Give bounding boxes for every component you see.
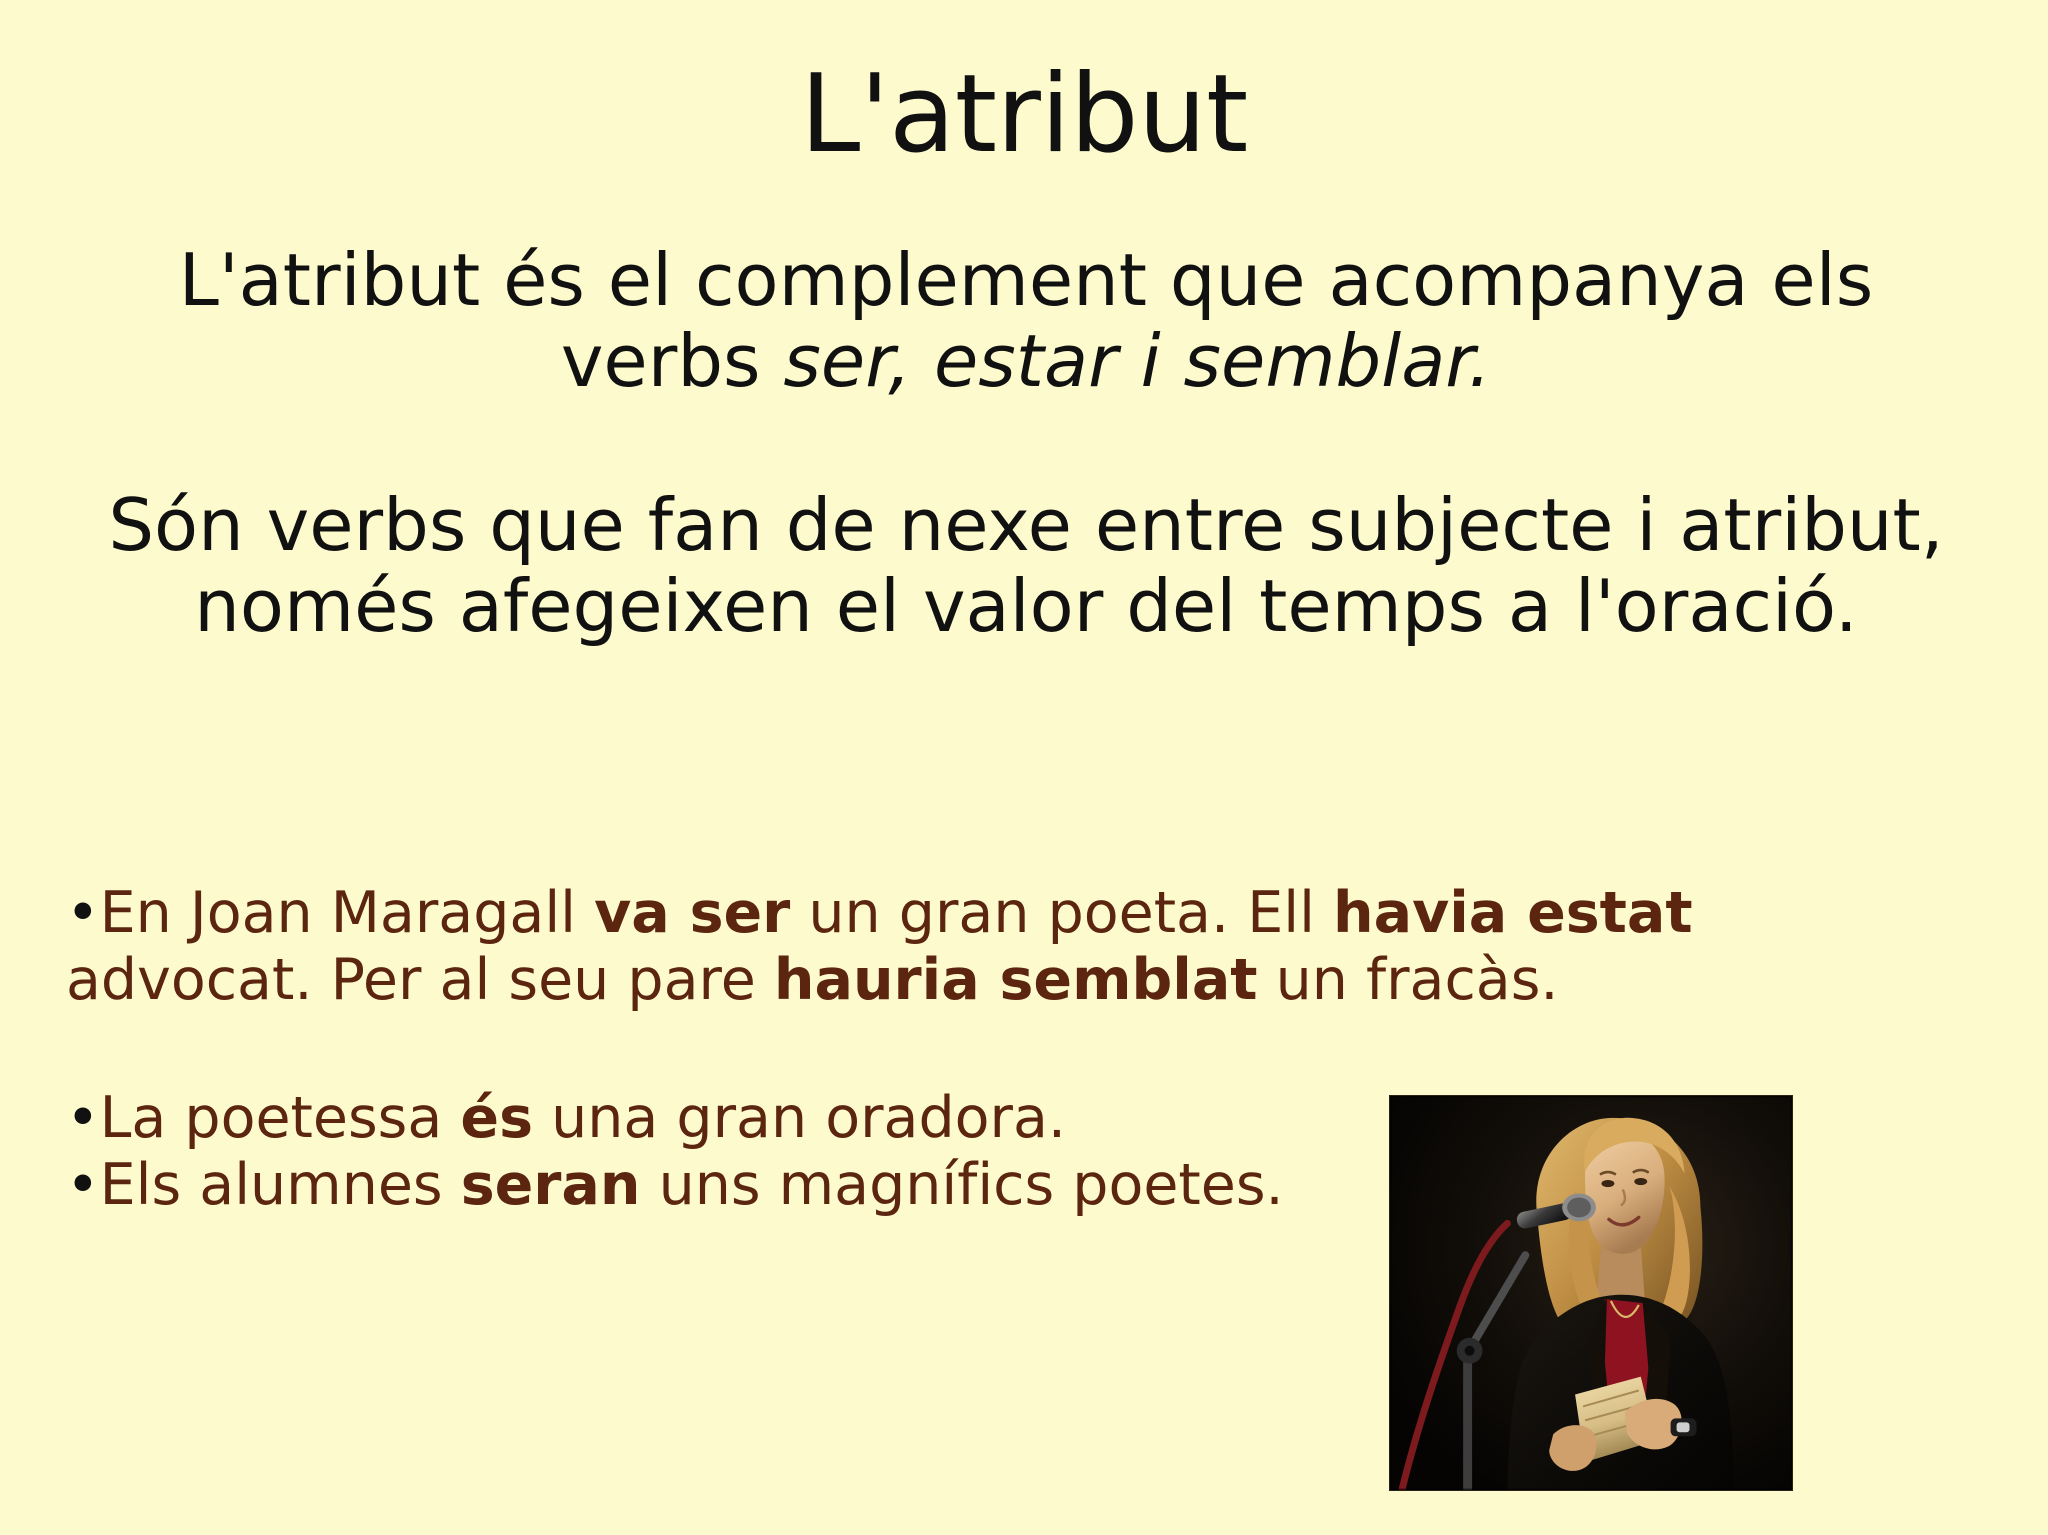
bullet-spacer bbox=[66, 1013, 1866, 1085]
bullet-alumnes-seg-0: Els alumnes bbox=[100, 1152, 461, 1218]
intro-paragraph-2: Són verbs que fan de nexe entre subjecte… bbox=[96, 485, 1956, 646]
bullet-poetessa-seg-0: La poetessa bbox=[100, 1085, 461, 1151]
page-title: L'atribut bbox=[0, 58, 2048, 171]
bullet-maragall-seg-4: advocat. Per al seu pare bbox=[66, 947, 774, 1013]
bullet-poetessa-seg-1: és bbox=[460, 1085, 533, 1151]
bullet-maragall-seg-5: hauria semblat bbox=[774, 947, 1258, 1013]
bullet-marker-icon: • bbox=[66, 880, 100, 946]
intro-spacer bbox=[96, 401, 1956, 485]
bullet-maragall-seg-0: En Joan Maragall bbox=[100, 880, 595, 946]
intro-paragraph-1: L'atribut és el complement que acompanya… bbox=[96, 240, 1956, 401]
bullet-maragall-seg-2: un gran poeta. Ell bbox=[790, 880, 1333, 946]
bullet-marker-icon: • bbox=[66, 1085, 100, 1151]
intro-text-block: L'atribut és el complement que acompanya… bbox=[96, 240, 1956, 647]
bullet-maragall-seg-6: un fracàs. bbox=[1258, 947, 1559, 1013]
mic-clamp-knob bbox=[1465, 1346, 1475, 1356]
poet-photo-illustration bbox=[1390, 1096, 1792, 1490]
bullet-maragall-seg-3: havia estat bbox=[1333, 880, 1693, 946]
right-eye bbox=[1634, 1178, 1647, 1185]
mic-grille bbox=[1567, 1197, 1591, 1217]
intro-paragraph-1-emphasis: ser, estar i semblar. bbox=[783, 319, 1491, 403]
left-eye bbox=[1601, 1180, 1614, 1187]
list-item: •En Joan Maragall va ser un gran poeta. … bbox=[66, 880, 1866, 1013]
bullet-alumnes-seg-2: uns magnífics poetes. bbox=[640, 1152, 1283, 1218]
poet-at-microphone-photo bbox=[1389, 1095, 1793, 1491]
bullet-alumnes-seg-1: seran bbox=[461, 1152, 641, 1218]
bullet-poetessa-seg-2: una gran oradora. bbox=[533, 1085, 1066, 1151]
wristwatch-face bbox=[1677, 1422, 1690, 1432]
bullet-maragall-seg-1: va ser bbox=[594, 880, 790, 946]
bullet-marker-icon: • bbox=[66, 1152, 100, 1218]
slide-root: L'atribut L'atribut és el complement que… bbox=[0, 0, 2048, 1535]
